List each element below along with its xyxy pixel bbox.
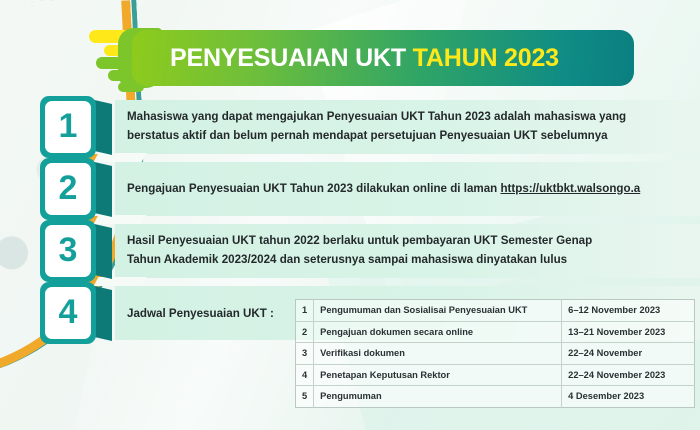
row-activity: Pengumuman dan Sosialisai Penyesuaian UK… <box>314 300 562 322</box>
uktbkt-link[interactable]: https://uktbkt.walsongo.a <box>500 182 640 195</box>
table-row: 1 Pengumuman dan Sosialisai Penyesuaian … <box>296 300 695 322</box>
page-title-accent: TAHUN 2023 <box>413 44 559 72</box>
row-date: 13–21 November 2023 <box>562 321 695 343</box>
cube-front-face-3: 3 <box>40 220 96 282</box>
row-activity: Verifikasi dokumen <box>314 343 562 365</box>
cube-inner-2: 2 <box>45 163 91 215</box>
step-number-2: 2 <box>59 171 78 205</box>
cube-front-face-1: 1 <box>40 96 96 158</box>
row-date: 22–24 November <box>562 343 695 365</box>
row-date: 22–24 November 2023 <box>562 364 695 386</box>
row-activity: Penetapan Keputusan Rektor <box>314 364 562 386</box>
poster-canvas: PENYESUAIAN UKT TAHUN 2023 Mahasiswa yan… <box>0 0 700 430</box>
step-band-1: Mahasiswa yang dapat mengajukan Penyesua… <box>115 100 700 154</box>
step-number-3: 3 <box>59 233 78 267</box>
table-row: 4 Penetapan Keputusan Rektor 22–24 Novem… <box>296 364 695 386</box>
step-item-3: Hasil Penyesuaian UKT tahun 2022 berlaku… <box>0 220 700 282</box>
schedule-table-body: 1 Pengumuman dan Sosialisai Penyesuaian … <box>296 300 695 408</box>
step-line-3b: Tahun Akademik 2023/2024 dan seterusnya … <box>127 253 567 266</box>
table-row: 3 Verifikasi dokumen 22–24 November <box>296 343 695 365</box>
step-item-2: Pengajuan Penyesuaian UKT Tahun 2023 dil… <box>0 158 700 220</box>
step-number-1: 1 <box>59 109 78 143</box>
row-activity: Pengajuan dokumen secara online <box>314 321 562 343</box>
step-number-4: 4 <box>59 295 78 329</box>
row-number: 1 <box>296 300 314 322</box>
step-number-cube-4: 4 <box>40 282 112 344</box>
table-row: 2 Pengajuan dokumen secara online 13–21 … <box>296 321 695 343</box>
row-number: 3 <box>296 343 314 365</box>
step-band-3: Hasil Penyesuaian UKT tahun 2022 berlaku… <box>115 224 700 278</box>
step-line-1b: berstatus aktif dan belum pernah mendapa… <box>127 129 608 142</box>
row-number: 4 <box>296 364 314 386</box>
row-date: 4 Desember 2023 <box>562 386 695 408</box>
step-text-2: Pengajuan Penyesuaian UKT Tahun 2023 dil… <box>115 180 646 199</box>
row-number: 2 <box>296 321 314 343</box>
step-text-1: Mahasiswa yang dapat mengajukan Penyesua… <box>115 108 632 146</box>
title-banner: PENYESUAIAN UKT TAHUN 2023 <box>132 30 634 86</box>
step-text-3: Hasil Penyesuaian UKT tahun 2022 berlaku… <box>115 232 598 270</box>
table-row: 5 Pengumuman 4 Desember 2023 <box>296 386 695 408</box>
step-text-4: Jadwal Penyesuaian UKT : <box>115 307 274 320</box>
step-line-1a: Mahasiswa yang dapat mengajukan Penyesua… <box>127 110 626 123</box>
cube-inner-3: 3 <box>45 225 91 277</box>
step-number-cube-3: 3 <box>40 220 112 282</box>
row-number: 5 <box>296 386 314 408</box>
step-line-2a: Pengajuan Penyesuaian UKT Tahun 2023 dil… <box>127 182 500 195</box>
schedule-table: 1 Pengumuman dan Sosialisai Penyesuaian … <box>295 299 695 408</box>
step-line-3a: Hasil Penyesuaian UKT tahun 2022 berlaku… <box>127 234 592 247</box>
row-activity: Pengumuman <box>314 386 562 408</box>
cube-inner-1: 1 <box>45 101 91 153</box>
cube-front-face-2: 2 <box>40 158 96 220</box>
cube-front-face-4: 4 <box>40 282 96 344</box>
row-date: 6–12 November 2023 <box>562 300 695 322</box>
cube-inner-4: 4 <box>45 287 91 339</box>
page-title-main: PENYESUAIAN UKT <box>170 44 413 72</box>
step-band-2: Pengajuan Penyesuaian UKT Tahun 2023 dil… <box>115 162 700 216</box>
step-number-cube-2: 2 <box>40 158 112 220</box>
page-title: PENYESUAIAN UKT TAHUN 2023 <box>170 44 559 73</box>
step-item-1: Mahasiswa yang dapat mengajukan Penyesua… <box>0 96 700 158</box>
step-number-cube-1: 1 <box>40 96 112 158</box>
